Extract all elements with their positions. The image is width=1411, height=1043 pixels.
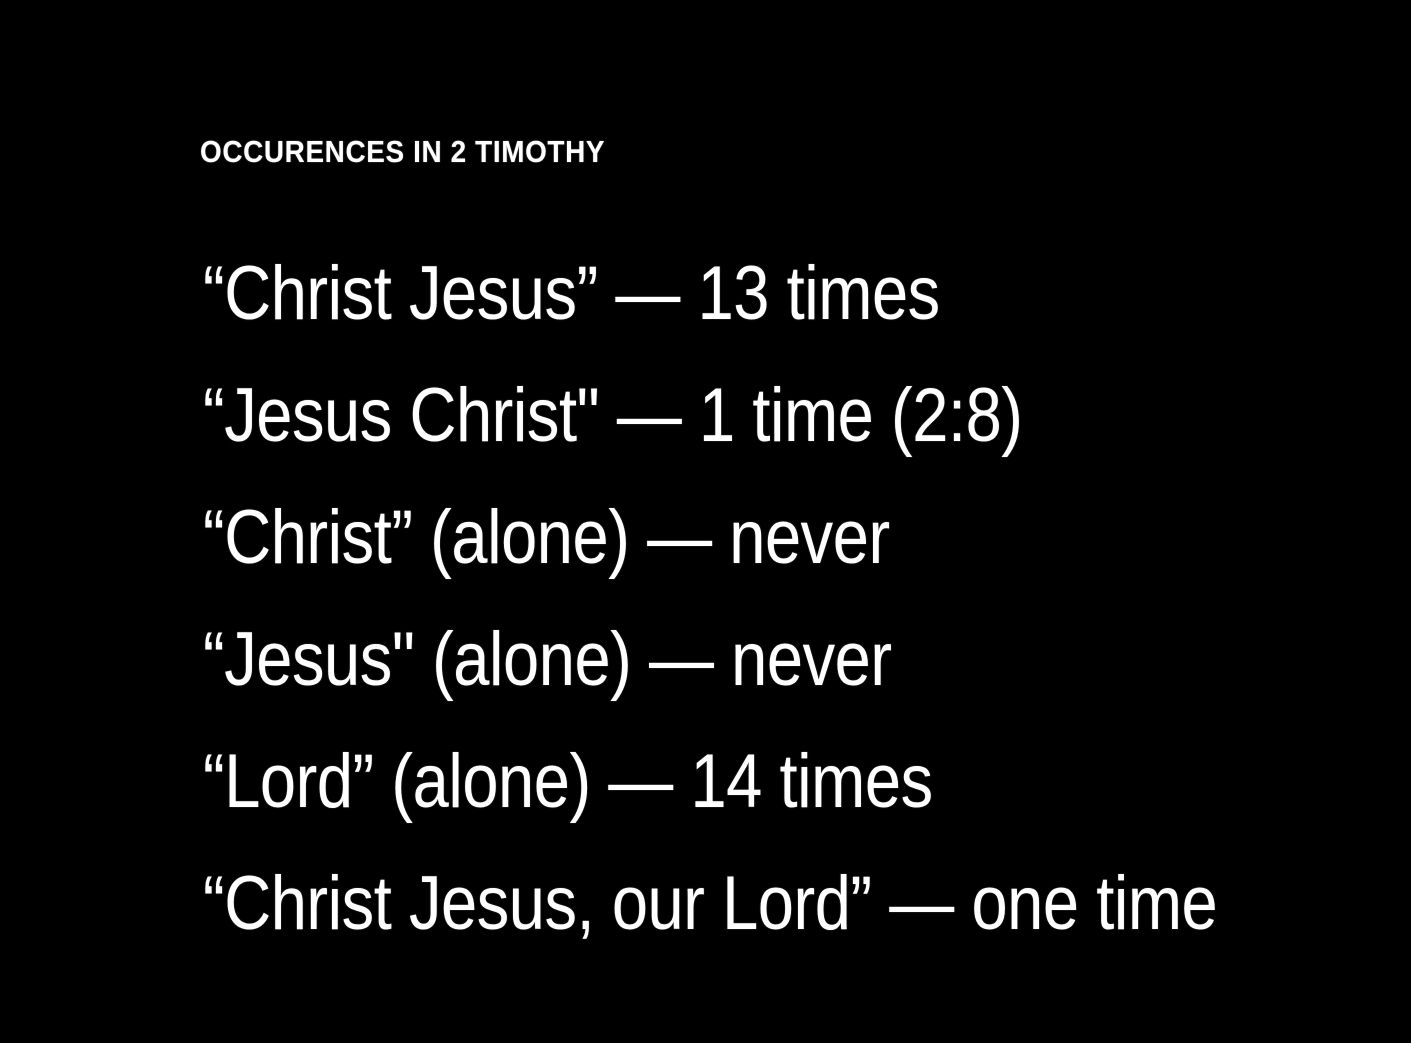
presentation-slide: OCCURENCES IN 2 TIMOTHY “Christ Jesus” —… bbox=[0, 0, 1411, 1043]
occurrence-list: “Christ Jesus” — 13 times “Jesus Christ"… bbox=[203, 233, 1383, 965]
list-item: “Jesus" (alone) — never bbox=[203, 599, 1212, 721]
list-item: “Christ Jesus” — 13 times bbox=[203, 233, 1212, 355]
slide-title: OCCURENCES IN 2 TIMOTHY bbox=[200, 134, 605, 170]
list-item: “Jesus Christ" — 1 time (2:8) bbox=[203, 355, 1212, 477]
list-item: “Lord” (alone) — 14 times bbox=[203, 721, 1212, 843]
list-item: “Christ Jesus, our Lord” — one time bbox=[203, 843, 1212, 965]
list-item: “Christ” (alone) — never bbox=[203, 477, 1212, 599]
